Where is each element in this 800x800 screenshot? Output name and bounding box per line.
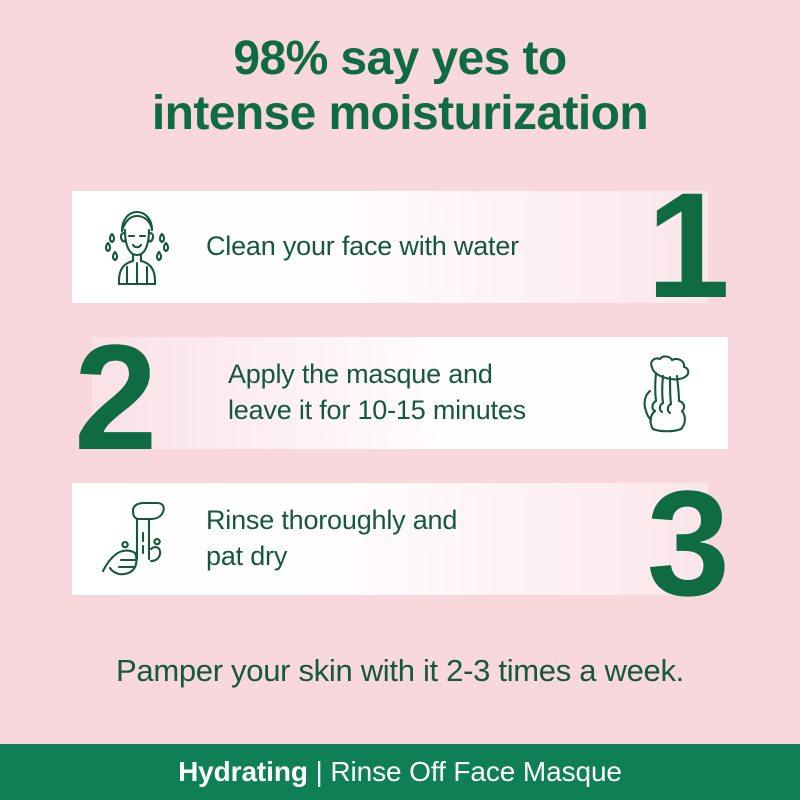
footer-brand-label: Hydrating <box>178 756 308 788</box>
step-card-2: Apply the masque and leave it for 10-15 … <box>92 337 728 449</box>
step-item-2: Apply the masque and leave it for 10-15 … <box>0 331 800 477</box>
infographic-poster: 98% say yes to intense moisturization <box>0 0 800 800</box>
hand-applying-masque-icon <box>628 350 706 436</box>
step-text-3: Rinse thoroughly and pat dry <box>206 503 457 574</box>
face-washing-icon <box>98 204 176 290</box>
step-text-2-line-2: leave it for 10-15 minutes <box>228 393 526 429</box>
step-card-3: Rinse thoroughly and pat dry <box>72 483 708 595</box>
step-text-2: Apply the masque and leave it for 10-15 … <box>228 357 526 428</box>
step-number-2: 2 <box>74 333 153 461</box>
headline-line-2: intense moisturization <box>0 87 800 142</box>
step-text-3-line-2: pat dry <box>206 539 457 575</box>
footer-product-label: Rinse Off Face Masque <box>330 756 622 788</box>
footer-separator: | <box>308 756 331 788</box>
step-number-3: 3 <box>647 479 726 607</box>
step-text-1: Clean your face with water <box>206 229 519 265</box>
product-footer-bar: Hydrating | Rinse Off Face Masque <box>0 744 800 800</box>
step-text-1-line-1: Clean your face with water <box>206 229 519 265</box>
steps-list: Clean your face with water 1 Apply the m… <box>0 185 800 623</box>
step-number-1: 1 <box>647 181 726 309</box>
step-text-3-line-1: Rinse thoroughly and <box>206 503 457 539</box>
step-item-3: Rinse thoroughly and pat dry 3 <box>0 477 800 623</box>
faucet-rinsing-hands-icon <box>98 496 176 582</box>
step-text-2-line-1: Apply the masque and <box>228 357 526 393</box>
headline-line-1: 98% say yes to <box>0 32 800 87</box>
page-title: 98% say yes to intense moisturization <box>0 32 800 141</box>
tagline: Pamper your skin with it 2-3 times a wee… <box>0 653 800 689</box>
step-item-1: Clean your face with water 1 <box>0 185 800 331</box>
step-card-1: Clean your face with water <box>72 191 708 303</box>
